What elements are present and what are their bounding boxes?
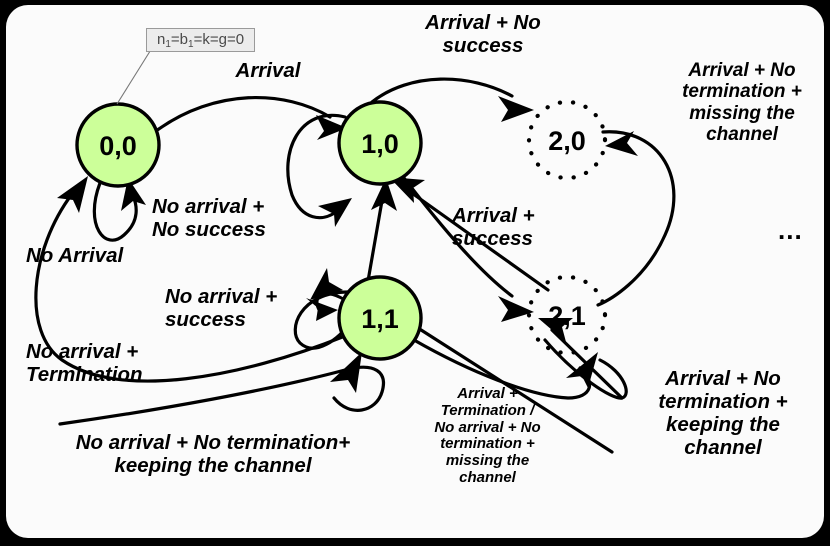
state-node-10[interactable]: 1,0: [339, 102, 421, 184]
state-node-00-label: 0,0: [99, 131, 137, 161]
state-diagram-svg: 0,0 1,0 1,1 2,0 2,1: [0, 0, 830, 546]
edge-11-to-10-vertical: [368, 178, 397, 281]
callout-leader-line: [117, 48, 152, 104]
callout-text-sub1: 1: [165, 39, 171, 50]
state-node-11[interactable]: 1,1: [339, 277, 421, 359]
callout-text-suffix: =k=g=0: [194, 31, 244, 48]
callout-text-mid: =b: [171, 31, 188, 48]
state-node-21-label: 2,1: [548, 301, 586, 331]
state-node-00[interactable]: 0,0: [77, 104, 159, 186]
state-node-21[interactable]: 2,1: [529, 277, 605, 353]
callout-initial-condition: n1=b1=k=g=0: [146, 28, 255, 52]
edge-bottom-keep-channel-to-11: [60, 352, 383, 424]
state-node-20-label: 2,0: [548, 126, 586, 156]
edge-21-to-10-diagonal: [389, 177, 548, 290]
state-node-11-label: 1,1: [361, 304, 399, 334]
edge-11-crossing-diagonal: [418, 328, 612, 452]
ellipsis-indicator: ...: [778, 215, 803, 246]
callout-text-sub2: 1: [188, 39, 194, 50]
state-node-20[interactable]: 2,0: [529, 102, 605, 178]
diagram-root: 0,0 1,0 1,1 2,0 2,1: [0, 0, 830, 546]
edge-20-right-loop-missing-channel: [598, 131, 674, 305]
state-node-10-label: 1,0: [361, 129, 399, 159]
